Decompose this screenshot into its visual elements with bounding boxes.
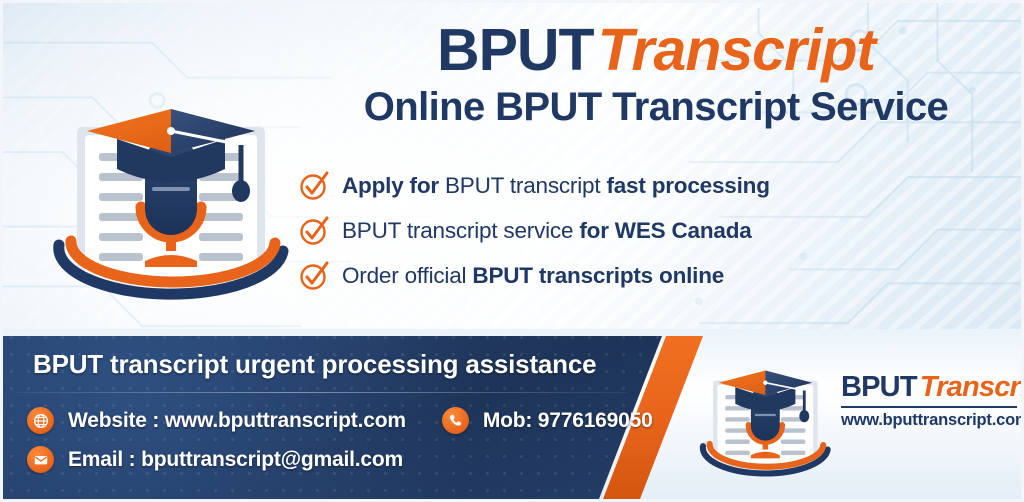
bullet-tail: fast processing	[606, 173, 769, 198]
footer-divider	[17, 392, 627, 393]
contact-row-primary: Website : www.bputtranscript.com Mob: 97…	[27, 407, 653, 446]
globe-icon	[27, 407, 54, 434]
bullet-mid: Order official	[342, 263, 472, 288]
brand-title-accent: Transcript	[594, 17, 875, 83]
list-item: Apply for BPUT transcript fast processin…	[299, 171, 899, 201]
list-item-label: BPUT transcript service for WES Canada	[342, 218, 752, 244]
check-circle-icon	[299, 261, 329, 291]
contact-info-block: Website : www.bputtranscript.com Mob: 97…	[27, 407, 653, 485]
contact-website[interactable]: Website : www.bputtranscript.com	[27, 407, 406, 434]
envelope-icon	[27, 446, 54, 473]
footer-brand-accent: Transcript	[917, 371, 1024, 403]
list-item: Order official BPUT transcripts online	[299, 261, 899, 291]
brand-title: BPUTTranscript	[303, 21, 1009, 80]
phone-icon	[442, 407, 469, 434]
bullet-lead: Apply for	[342, 173, 439, 198]
main-logo-graphic	[41, 49, 307, 311]
footer-logo-graphic	[693, 335, 841, 485]
footer-section: BPUT transcript urgent processing assist…	[3, 329, 1024, 499]
check-circle-icon	[299, 171, 329, 201]
footer-brand-primary: BPUT	[841, 371, 917, 403]
bullet-mid: BPUT transcript service	[342, 218, 579, 243]
hero-section: BPUTTranscript Online BPUT Transcript Se…	[3, 3, 1024, 335]
list-item: BPUT transcript service for WES Canada	[299, 216, 899, 246]
website-label: Website : www.bputtranscript.com	[68, 409, 406, 433]
phone-label: Mob: 9776169050	[483, 409, 653, 433]
feature-bullet-list: Apply for BPUT transcript fast processin…	[299, 171, 899, 306]
headline-block: BPUTTranscript Online BPUT Transcript Se…	[303, 21, 1009, 128]
list-item-label: Apply for BPUT transcript fast processin…	[342, 173, 770, 199]
footer-headline: BPUT transcript urgent processing assist…	[33, 349, 596, 380]
footer-brand-url: www.bputtranscript.com	[841, 411, 1017, 430]
page-subtitle: Online BPUT Transcript Service	[303, 86, 1009, 128]
contact-phone[interactable]: Mob: 9776169050	[442, 407, 653, 434]
check-circle-icon	[299, 216, 329, 246]
footer-brand-underline	[841, 406, 1017, 408]
footer-brand-block: BPUTTranscript www.bputtranscript.com	[841, 373, 1021, 430]
contact-email[interactable]: Email : bputtranscript@gmail.com	[27, 446, 653, 473]
footer-brand-title: BPUTTranscript	[841, 373, 1021, 402]
list-item-label: Order official BPUT transcripts online	[342, 263, 724, 289]
bullet-tail: BPUT transcripts online	[472, 263, 724, 288]
promo-banner: BPUTTranscript Online BPUT Transcript Se…	[0, 0, 1024, 502]
email-label: Email : bputtranscript@gmail.com	[68, 448, 403, 472]
bullet-tail: for WES Canada	[579, 218, 751, 243]
bullet-mid: BPUT transcript	[439, 173, 606, 198]
brand-title-primary: BPUT	[437, 17, 594, 83]
